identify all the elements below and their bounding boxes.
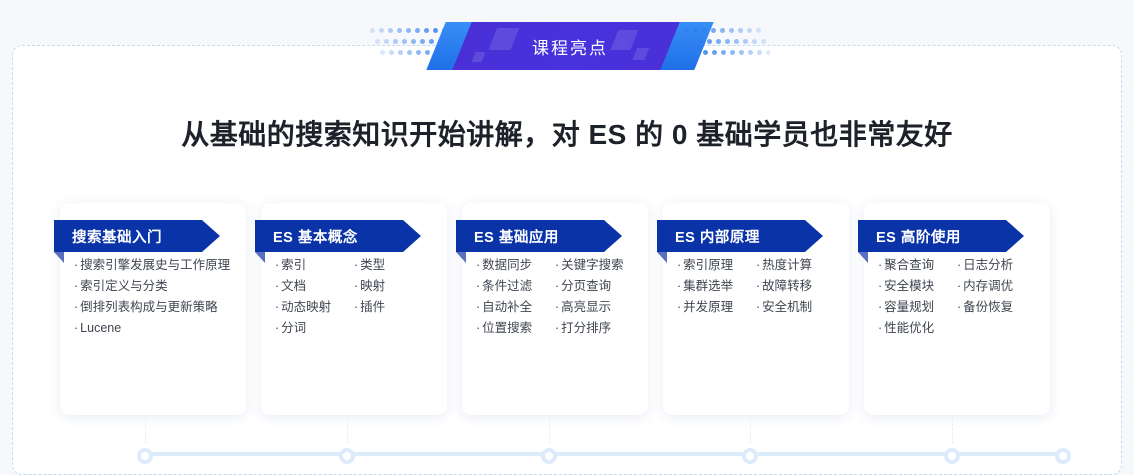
card-item: ·索引原理 (677, 255, 756, 276)
card-item-label: 聚合查询 (884, 258, 934, 272)
bullet-icon: · (354, 300, 358, 314)
decor-dot (398, 50, 403, 55)
card-item-columns: ·索引·文档·动态映射·分词·类型·映射·插件 (261, 255, 447, 339)
bullet-icon: · (756, 258, 760, 272)
decor-dot (397, 28, 402, 33)
bullet-icon: · (275, 300, 279, 314)
timeline-node (137, 448, 153, 464)
decor-dot (407, 50, 412, 55)
card-item-label: 索引 (281, 258, 306, 272)
decor-dot (416, 50, 421, 55)
card-item-label: 备份恢复 (963, 300, 1013, 314)
card-item: ·备份恢复 (957, 297, 1036, 318)
card-column-left: ·索引原理·集群选举·并发原理 (677, 255, 756, 318)
card-title: ES 基本概念 (273, 226, 358, 247)
card-column-left: ·索引·文档·动态映射·分词 (275, 255, 354, 339)
ribbon-shape: ES 基础应用 (456, 220, 622, 252)
bullet-icon: · (476, 321, 480, 335)
card-item: ·映射 (354, 276, 433, 297)
bullet-icon: · (555, 258, 559, 272)
card-item-label: 打分排序 (561, 321, 611, 335)
decor-dot (370, 28, 375, 33)
card-column-right: ·关键字搜索·分页查询·高亮显示·打分排序 (555, 255, 634, 339)
decor-dot (748, 50, 753, 55)
bullet-icon: · (74, 279, 78, 293)
decor-dot (720, 28, 725, 33)
card-item: ·分页查询 (555, 276, 634, 297)
decor-dot (757, 50, 762, 55)
banner-title: 课程亮点 (462, 22, 678, 70)
bullet-icon: · (957, 258, 961, 272)
decor-dot (689, 39, 694, 44)
bullet-icon: · (878, 258, 882, 272)
decor-dot (380, 50, 385, 55)
decor-dot (711, 28, 716, 33)
card-item-label: 文档 (281, 279, 306, 293)
decor-dot (716, 39, 721, 44)
card-item: ·并发原理 (677, 297, 756, 318)
bottom-timeline (0, 448, 1134, 460)
card-item: ·索引 (275, 255, 354, 276)
bullet-icon: · (878, 321, 882, 335)
bullet-icon: · (555, 300, 559, 314)
card-item: ·插件 (354, 297, 433, 318)
decor-dot (739, 50, 744, 55)
decor-dot (747, 28, 752, 33)
card-item-columns: ·数据同步·条件过滤·自动补全·位置搜索·关键字搜索·分页查询·高亮显示·打分排… (462, 255, 648, 339)
card-item-label: 分页查询 (561, 279, 611, 293)
card-item-label: 类型 (360, 258, 385, 272)
highlight-card-list: 搜索基础入门·搜索引擎发展史与工作原理·索引定义与分类·倒排列表构成与更新策略·… (60, 203, 1074, 415)
decor-dot (402, 39, 407, 44)
decor-dot (433, 28, 438, 33)
card-item: ·分词 (275, 318, 354, 339)
bullet-icon: · (555, 279, 559, 293)
card-item: ·文档 (275, 276, 354, 297)
card-item-label: 故障转移 (762, 279, 812, 293)
card-ribbon: ES 基础应用 (456, 220, 622, 252)
bullet-icon: · (878, 300, 882, 314)
card-item: ·打分排序 (555, 318, 634, 339)
card-item-label: 倒排列表构成与更新策略 (80, 300, 218, 314)
card-column-left: ·聚合查询·安全模块·容量规划·性能优化 (878, 255, 957, 339)
card-column-right: ·热度计算·故障转移·安全机制 (756, 255, 835, 318)
highlight-card: ES 基础应用·数据同步·条件过滤·自动补全·位置搜索·关键字搜索·分页查询·高… (462, 203, 648, 415)
highlight-card: ES 高阶使用·聚合查询·安全模块·容量规划·性能优化·日志分析·内存调优·备份… (864, 203, 1050, 415)
timeline-line (150, 452, 1070, 456)
decor-dot (743, 39, 748, 44)
ribbon-shape: 搜索基础入门 (54, 220, 220, 252)
decor-dot (730, 50, 735, 55)
decor-dot (425, 50, 430, 55)
card-item: ·类型 (354, 255, 433, 276)
decor-dot (756, 28, 761, 33)
card-column-right: ·类型·映射·插件 (354, 255, 433, 339)
card-item: ·数据同步 (476, 255, 555, 276)
decor-dot (729, 28, 734, 33)
card-ribbon: ES 基本概念 (255, 220, 421, 252)
decor-dot (379, 28, 384, 33)
bullet-icon: · (555, 321, 559, 335)
bullet-icon: · (957, 279, 961, 293)
card-item: ·聚合查询 (878, 255, 957, 276)
card-title: 搜索基础入门 (72, 226, 162, 247)
bullet-icon: · (476, 258, 480, 272)
card-item-label: 性能优化 (884, 321, 934, 335)
decor-dot (389, 50, 394, 55)
timeline-guide (750, 418, 751, 444)
decor-dot (761, 39, 766, 44)
decor-dot (752, 39, 757, 44)
decor-dot (698, 39, 703, 44)
card-title: ES 内部原理 (675, 226, 760, 247)
card-item: ·高亮显示 (555, 297, 634, 318)
card-item-label: 分词 (281, 321, 306, 335)
card-item: ·倒排列表构成与更新策略 (74, 297, 232, 318)
card-item-label: 映射 (360, 279, 385, 293)
card-item: ·集群选举 (677, 276, 756, 297)
card-item: ·动态映射 (275, 297, 354, 318)
bullet-icon: · (957, 300, 961, 314)
card-item-label: 自动补全 (482, 300, 532, 314)
card-item-label: 索引定义与分类 (80, 279, 168, 293)
card-item-label: 内存调优 (963, 279, 1013, 293)
bullet-icon: · (476, 279, 480, 293)
card-item-label: 安全机制 (762, 300, 812, 314)
timeline-node (339, 448, 355, 464)
card-item-columns: ·索引原理·集群选举·并发原理·热度计算·故障转移·安全机制 (663, 255, 849, 318)
decor-dot (702, 28, 707, 33)
decor-dot (766, 50, 770, 55)
card-ribbon: 搜索基础入门 (54, 220, 220, 252)
card-title: ES 基础应用 (474, 226, 559, 247)
page-title: 从基础的搜索知识开始讲解，对 ES 的 0 基础学员也非常友好 (0, 113, 1134, 153)
card-item: ·故障转移 (756, 276, 835, 297)
card-column-right: ·日志分析·内存调优·备份恢复 (957, 255, 1036, 339)
bullet-icon: · (677, 300, 681, 314)
decor-dot (424, 28, 429, 33)
decor-dot (721, 50, 726, 55)
card-item: ·容量规划 (878, 297, 957, 318)
timeline-node (742, 448, 758, 464)
timeline-node (541, 448, 557, 464)
decor-dot (693, 28, 698, 33)
decor-dot (694, 50, 699, 55)
card-item: ·位置搜索 (476, 318, 555, 339)
bullet-icon: · (878, 279, 882, 293)
card-item-label: 集群选举 (683, 279, 733, 293)
card-item-label: 搜索引擎发展史与工作原理 (80, 258, 230, 272)
card-item-label: 位置搜索 (482, 321, 532, 335)
decor-dot (388, 28, 393, 33)
card-item-label: 动态映射 (281, 300, 331, 314)
card-item-label: 日志分析 (963, 258, 1013, 272)
decor-dot (703, 50, 708, 55)
bullet-icon: · (354, 279, 358, 293)
highlight-card: ES 内部原理·索引原理·集群选举·并发原理·热度计算·故障转移·安全机制 (663, 203, 849, 415)
timeline-guide (347, 418, 348, 444)
timeline-guide (145, 418, 146, 444)
bullet-icon: · (677, 258, 681, 272)
bullet-icon: · (756, 300, 760, 314)
card-item: ·条件过滤 (476, 276, 555, 297)
ribbon-shape: ES 内部原理 (657, 220, 823, 252)
decor-dot (725, 39, 730, 44)
bullet-icon: · (354, 258, 358, 272)
card-ribbon: ES 高阶使用 (858, 220, 1024, 252)
decor-dot (375, 39, 380, 44)
card-item: ·内存调优 (957, 276, 1036, 297)
section-banner: 课程亮点 (370, 18, 770, 74)
card-item-columns: ·聚合查询·安全模块·容量规划·性能优化·日志分析·内存调优·备份恢复 (864, 255, 1050, 339)
card-item: ·安全机制 (756, 297, 835, 318)
decor-dot (429, 39, 434, 44)
card-item: ·自动补全 (476, 297, 555, 318)
card-title: ES 高阶使用 (876, 226, 961, 247)
card-item: ·安全模块 (878, 276, 957, 297)
timeline-guide (952, 418, 953, 444)
bullet-icon: · (275, 258, 279, 272)
bullet-icon: · (677, 279, 681, 293)
card-item: ·关键字搜索 (555, 255, 634, 276)
timeline-node (944, 448, 960, 464)
card-column-left: ·数据同步·条件过滤·自动补全·位置搜索 (476, 255, 555, 339)
ribbon-shape: ES 基本概念 (255, 220, 421, 252)
card-item-columns: ·搜索引擎发展史与工作原理·索引定义与分类·倒排列表构成与更新策略·Lucene (60, 255, 246, 339)
timeline-node (1055, 448, 1071, 464)
bullet-icon: · (275, 321, 279, 335)
card-item-label: 索引原理 (683, 258, 733, 272)
card-ribbon: ES 内部原理 (657, 220, 823, 252)
card-column-left: ·搜索引擎发展史与工作原理·索引定义与分类·倒排列表构成与更新策略·Lucene (74, 255, 232, 339)
bullet-icon: · (275, 279, 279, 293)
decor-dot (734, 39, 739, 44)
card-item-label: 插件 (360, 300, 385, 314)
decor-dot (712, 50, 717, 55)
card-item: ·搜索引擎发展史与工作原理 (74, 255, 232, 276)
card-item: ·日志分析 (957, 255, 1036, 276)
decorative-dots-right (684, 26, 770, 66)
bullet-icon: · (74, 321, 78, 335)
card-item: ·索引定义与分类 (74, 276, 232, 297)
decor-dot (738, 28, 743, 33)
card-item: ·性能优化 (878, 318, 957, 339)
bullet-icon: · (756, 279, 760, 293)
card-item-label: Lucene (80, 321, 121, 335)
highlight-card: 搜索基础入门·搜索引擎发展史与工作原理·索引定义与分类·倒排列表构成与更新策略·… (60, 203, 246, 415)
highlight-card: ES 基本概念·索引·文档·动态映射·分词·类型·映射·插件 (261, 203, 447, 415)
decor-dot (415, 28, 420, 33)
bullet-icon: · (74, 258, 78, 272)
card-item-label: 关键字搜索 (561, 258, 624, 272)
bullet-icon: · (476, 300, 480, 314)
ribbon-shape: ES 高阶使用 (858, 220, 1024, 252)
card-item-label: 安全模块 (884, 279, 934, 293)
card-item-label: 并发原理 (683, 300, 733, 314)
decor-dot (393, 39, 398, 44)
decor-dot (420, 39, 425, 44)
card-item-label: 数据同步 (482, 258, 532, 272)
bullet-icon: · (74, 300, 78, 314)
card-item-label: 条件过滤 (482, 279, 532, 293)
decor-dot (411, 39, 416, 44)
card-item-label: 容量规划 (884, 300, 934, 314)
decor-dot (384, 39, 389, 44)
decor-dot (684, 28, 689, 33)
card-item: ·热度计算 (756, 255, 835, 276)
decor-dot (707, 39, 712, 44)
card-item-label: 热度计算 (762, 258, 812, 272)
card-item: ·Lucene (74, 318, 232, 339)
timeline-guide (549, 418, 550, 444)
decor-dot (406, 28, 411, 33)
card-item-label: 高亮显示 (561, 300, 611, 314)
